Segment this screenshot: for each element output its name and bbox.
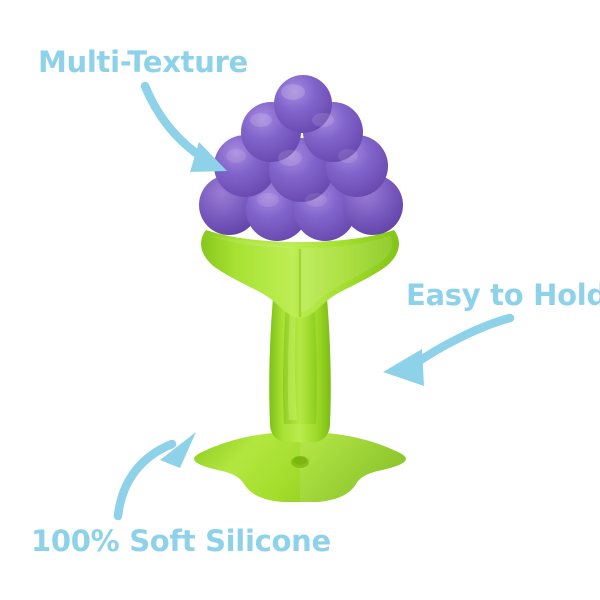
soft-silicone-arrow-icon — [118, 432, 196, 516]
annotation-label-easy-to-hold: Easy to Hold — [406, 281, 600, 310]
annotation-label-multi-texture: Multi-Texture — [38, 48, 248, 77]
easy-to-hold-arrow-icon — [383, 318, 510, 386]
multi-texture-arrow-icon — [145, 86, 227, 172]
infographic-canvas: Multi-Texture Easy to Hold 100% Soft Sil… — [0, 0, 600, 600]
annotation-label-soft-silicone: 100% Soft Silicone — [31, 527, 331, 556]
